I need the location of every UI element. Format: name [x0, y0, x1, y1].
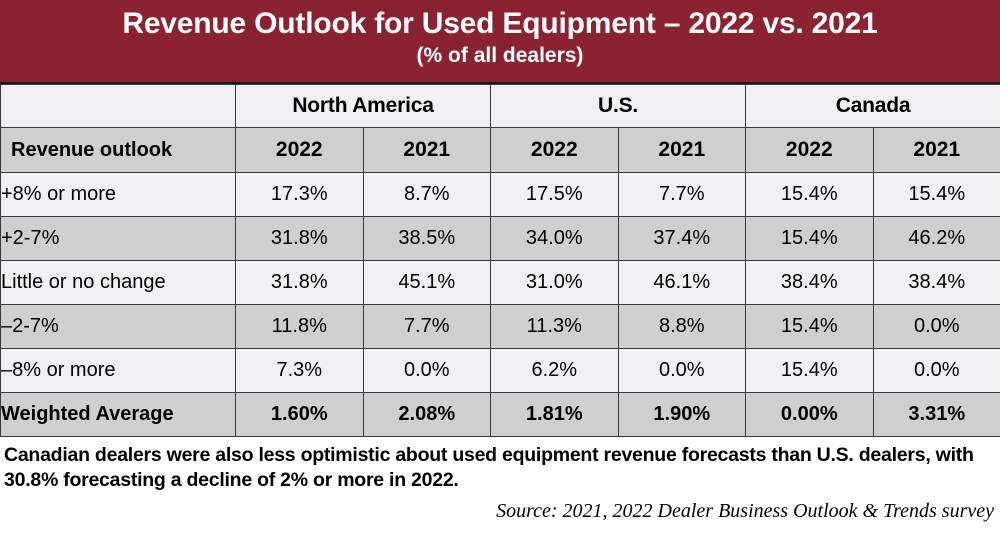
cell-value: 37.4% — [618, 217, 746, 261]
cell-value: 38.4% — [873, 261, 1000, 305]
cell-value: 34.0% — [491, 217, 619, 261]
cell-value: 0.0% — [873, 349, 1000, 393]
column-header-us-2022: 2022 — [491, 128, 619, 173]
cell-value: 0.0% — [618, 349, 746, 393]
cell-value: 15.4% — [746, 305, 874, 349]
column-header-na-2021: 2021 — [363, 128, 491, 173]
cell-value: 7.3% — [236, 349, 364, 393]
cell-value: 3.31% — [873, 393, 1000, 437]
cell-value: 0.0% — [363, 349, 491, 393]
year-header-row: Revenue outlook 2022 2021 2022 2021 2022… — [1, 128, 1000, 173]
cell-value: 17.5% — [491, 173, 619, 217]
cell-value: 31.0% — [491, 261, 619, 305]
column-header-ca-2022: 2022 — [746, 128, 874, 173]
group-header-canada: Canada — [746, 85, 1000, 128]
cell-value: 15.4% — [746, 173, 874, 217]
group-header-north-america: North America — [236, 85, 491, 128]
figure-title: Revenue Outlook for Used Equipment – 202… — [10, 6, 990, 42]
row-label: +2-7% — [1, 217, 236, 261]
cell-value: 0.00% — [746, 393, 874, 437]
cell-value: 0.0% — [873, 305, 1000, 349]
cell-value: 15.4% — [746, 349, 874, 393]
table-row: –8% or more 7.3% 0.0% 6.2% 0.0% 15.4% 0.… — [1, 349, 1000, 393]
revenue-outlook-figure: Revenue Outlook for Used Equipment – 202… — [0, 0, 1000, 540]
column-header-ca-2021: 2021 — [873, 128, 1000, 173]
footnote-text: Canadian dealers were also less optimist… — [0, 437, 1000, 493]
cell-value: 6.2% — [491, 349, 619, 393]
revenue-outlook-table: North America U.S. Canada Revenue outloo… — [0, 84, 1000, 437]
row-label: –8% or more — [1, 349, 236, 393]
row-label: +8% or more — [1, 173, 236, 217]
source-citation: Source: 2021, 2022 Dealer Business Outlo… — [0, 493, 1000, 523]
cell-value: 38.4% — [746, 261, 874, 305]
cell-value: 8.7% — [363, 173, 491, 217]
cell-value: 46.1% — [618, 261, 746, 305]
table-row: +8% or more 17.3% 8.7% 17.5% 7.7% 15.4% … — [1, 173, 1000, 217]
group-header-us: U.S. — [491, 85, 746, 128]
column-header-revenue-outlook: Revenue outlook — [1, 128, 236, 173]
cell-value: 8.8% — [618, 305, 746, 349]
group-header-row: North America U.S. Canada — [1, 85, 1000, 128]
row-label: Weighted Average — [1, 393, 236, 437]
title-banner: Revenue Outlook for Used Equipment – 202… — [0, 0, 1000, 84]
cell-value: 11.8% — [236, 305, 364, 349]
column-header-na-2022: 2022 — [236, 128, 364, 173]
table-row: +2-7% 31.8% 38.5% 34.0% 37.4% 15.4% 46.2… — [1, 217, 1000, 261]
cell-value: 17.3% — [236, 173, 364, 217]
cell-value: 1.60% — [236, 393, 364, 437]
cell-value: 31.8% — [236, 261, 364, 305]
row-label: –2-7% — [1, 305, 236, 349]
cell-value: 7.7% — [363, 305, 491, 349]
table-body: +8% or more 17.3% 8.7% 17.5% 7.7% 15.4% … — [1, 173, 1000, 437]
figure-subtitle: (% of all dealers) — [10, 43, 990, 69]
cell-value: 45.1% — [363, 261, 491, 305]
table-row: –2-7% 11.8% 7.7% 11.3% 8.8% 15.4% 0.0% — [1, 305, 1000, 349]
cell-value: 2.08% — [363, 393, 491, 437]
cell-value: 31.8% — [236, 217, 364, 261]
cell-value: 7.7% — [618, 173, 746, 217]
row-label: Little or no change — [1, 261, 236, 305]
cell-value: 1.81% — [491, 393, 619, 437]
cell-value: 46.2% — [873, 217, 1000, 261]
cell-value: 15.4% — [746, 217, 874, 261]
corner-cell — [1, 85, 236, 128]
cell-value: 15.4% — [873, 173, 1000, 217]
table-row: Little or no change 31.8% 45.1% 31.0% 46… — [1, 261, 1000, 305]
table-row-weighted-average: Weighted Average 1.60% 2.08% 1.81% 1.90%… — [1, 393, 1000, 437]
table-header: North America U.S. Canada Revenue outloo… — [1, 85, 1000, 173]
cell-value: 11.3% — [491, 305, 619, 349]
cell-value: 1.90% — [618, 393, 746, 437]
column-header-us-2021: 2021 — [618, 128, 746, 173]
cell-value: 38.5% — [363, 217, 491, 261]
